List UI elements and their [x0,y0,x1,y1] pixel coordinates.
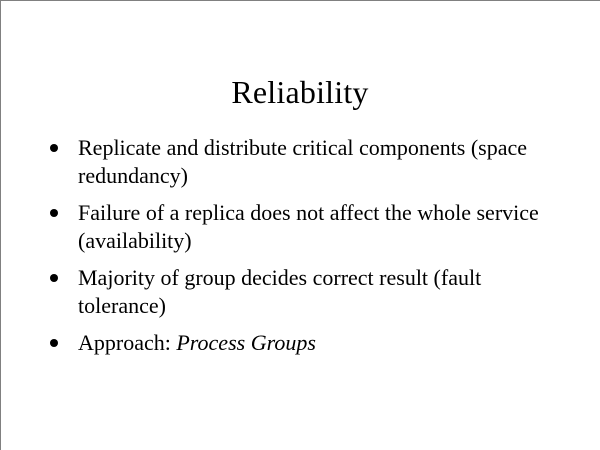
bullet-list: Replicate and distribute critical compon… [46,134,551,357]
list-item-text: Replicate and distribute critical compon… [78,134,551,190]
list-item-emphasis: Process Groups [176,330,316,355]
list-item-text: Approach: Process Groups [78,329,551,357]
presentation-slide: Reliability Replicate and distribute cri… [0,0,600,450]
filled-circle-bullet-icon [50,339,58,347]
list-item: Failure of a replica does not affect the… [46,199,551,255]
filled-circle-bullet-icon [50,144,58,152]
list-item: Majority of group decides correct result… [46,264,551,320]
slide-top-border [0,0,600,1]
list-item-text: Failure of a replica does not affect the… [78,199,551,255]
list-item: Approach: Process Groups [46,329,551,357]
filled-circle-bullet-icon [50,274,58,282]
slide-left-border [0,0,1,450]
list-item-text: Majority of group decides correct result… [78,264,551,320]
list-item: Replicate and distribute critical compon… [46,134,551,190]
slide-title: Reliability [0,73,600,111]
list-item-label: Approach: [78,330,176,355]
filled-circle-bullet-icon [50,209,58,217]
